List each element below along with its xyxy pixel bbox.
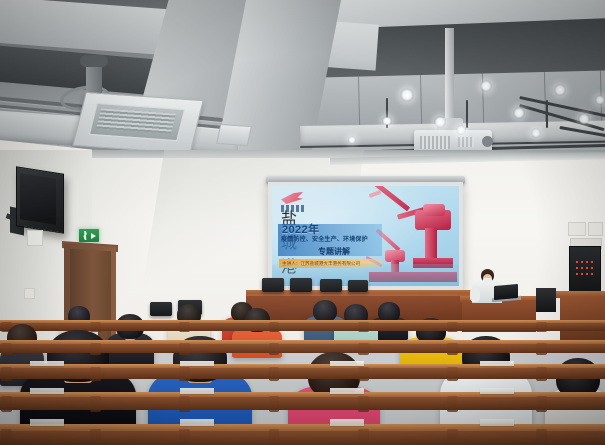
seat-divider <box>447 367 458 381</box>
desk-paper <box>30 361 64 366</box>
seat-divider <box>179 322 190 332</box>
ceiling-downlight-7 <box>382 116 392 126</box>
seat-divider <box>358 367 369 381</box>
seat-divider <box>447 396 458 412</box>
slide-subtitle: 疫情防控、安全生产、环境保护 <box>281 237 385 244</box>
seat-divider <box>358 322 369 332</box>
bench-row <box>0 424 605 445</box>
desk-paper <box>30 419 64 426</box>
wall-plate-right-2 <box>588 222 603 236</box>
seat-divider <box>179 429 190 445</box>
seat-divider <box>1 396 12 412</box>
running-man-glyph <box>83 231 87 240</box>
seat-divider <box>179 396 190 412</box>
exit-arrow-glyph <box>91 233 96 239</box>
lecture-hall-photo: 盐城港 2022年 疫情防控、安全生产、环境保护 专题讲解 主讲人：江苏盐城港大… <box>0 0 605 445</box>
slide-logo-text: 盐城港 <box>281 205 305 212</box>
ceiling-downlight-1 <box>400 88 414 102</box>
seat-divider <box>1 343 12 355</box>
seat-divider <box>90 429 101 445</box>
ceiling-downlight-3 <box>480 80 492 92</box>
desk-paper <box>480 361 514 366</box>
seat-divider <box>1 429 12 445</box>
ceiling-downlight-10 <box>595 95 605 105</box>
ceiling-downlight-2 <box>434 116 446 128</box>
seat-divider <box>536 322 547 332</box>
seat-divider <box>358 396 369 412</box>
seat-divider <box>536 429 547 445</box>
seat-divider <box>447 343 458 355</box>
desk-paper <box>180 419 214 426</box>
desk-paper <box>330 388 364 393</box>
presenter-arm <box>470 288 480 302</box>
presentation-slide: 盐城港 2022年 疫情防控、安全生产、环境保护 专题讲解 主讲人：江苏盐城港大… <box>272 186 459 286</box>
ceiling-vent <box>216 124 252 146</box>
laptop-icon <box>494 284 518 300</box>
seat-divider <box>179 343 190 355</box>
seat-divider <box>269 429 280 445</box>
bench-row <box>0 392 605 410</box>
ceiling-downlight-6 <box>578 113 590 125</box>
seat-divider <box>269 343 280 355</box>
seat-divider <box>1 367 12 381</box>
seat-divider <box>447 429 458 445</box>
ceiling-hanger-2 <box>466 100 468 128</box>
seat-divider <box>536 343 547 355</box>
face-mask-icon <box>483 278 492 283</box>
projector-mount-pole <box>445 28 454 123</box>
desk-paper <box>480 388 514 393</box>
control-monitor <box>290 278 312 292</box>
slide-main-title: 专题讲解 <box>294 247 374 256</box>
seat-divider <box>358 429 369 445</box>
ceiling-downlight-4 <box>513 107 525 119</box>
control-monitor <box>320 279 342 292</box>
desk-paper <box>30 388 64 393</box>
seat-divider <box>269 396 280 412</box>
control-monitor <box>262 278 284 292</box>
ceiling-downlight-5 <box>554 84 566 96</box>
ceiling-downlight-11 <box>348 136 356 144</box>
speaker-grille <box>20 173 56 225</box>
seat-divider <box>90 396 101 412</box>
front-speaker-right <box>536 288 556 312</box>
seat-divider <box>90 367 101 381</box>
projector-lens <box>482 136 493 147</box>
seat-divider <box>536 367 547 381</box>
ceiling-downlight-8 <box>456 125 466 135</box>
seat-divider <box>269 367 280 381</box>
slide-year-title: 2022年 <box>282 224 382 236</box>
seat-divider <box>90 343 101 355</box>
wall-plate-right-1 <box>568 222 586 236</box>
desk-paper <box>480 419 514 426</box>
desk-paper <box>330 419 364 426</box>
bench-row <box>0 364 605 379</box>
wall-outlet-plate <box>27 230 43 246</box>
seat-divider <box>536 396 547 412</box>
seat-divider <box>179 367 190 381</box>
control-monitor <box>348 280 368 292</box>
ac-pipe-cap <box>80 55 108 67</box>
exit-sign-icon <box>78 228 100 243</box>
seat-divider <box>447 322 458 332</box>
person-head <box>378 302 400 322</box>
wall-outlet-plate-2 <box>24 288 35 299</box>
desk-paper <box>180 361 214 366</box>
desk-paper <box>330 361 364 366</box>
desk-paper <box>180 388 214 393</box>
seat-divider <box>269 322 280 332</box>
ceiling-downlight-9 <box>531 128 541 138</box>
ceiling-hanger-3 <box>546 100 548 128</box>
